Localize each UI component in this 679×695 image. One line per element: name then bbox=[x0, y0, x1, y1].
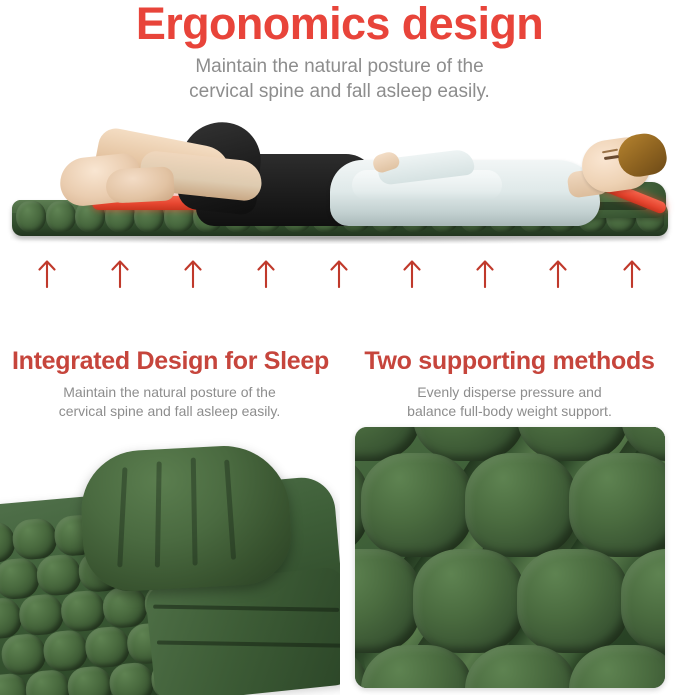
arrow-up-icon bbox=[402, 258, 422, 288]
hero-photo bbox=[0, 104, 679, 254]
air-cell bbox=[361, 453, 473, 557]
inflatable-pillow bbox=[78, 443, 293, 594]
support-arrow-row bbox=[0, 258, 679, 292]
section-left-photo: Sryang Sryang bbox=[0, 438, 340, 695]
section-left-heading: Integrated Design for Sleep bbox=[0, 346, 339, 376]
pad-baffle-cell bbox=[42, 629, 89, 673]
arrow-up-icon bbox=[256, 258, 276, 288]
arrow-up-icon bbox=[329, 258, 349, 288]
rail-seam bbox=[157, 640, 340, 647]
arrow-up-icon bbox=[475, 258, 495, 288]
section-left-subtitle: Maintain the natural posture of the cerv… bbox=[0, 383, 339, 421]
rail-seam bbox=[153, 605, 339, 612]
pad-baffle-cell bbox=[0, 633, 47, 677]
section-right-subtitle-line1: Evenly disperse pressure and bbox=[340, 383, 679, 402]
section-left-subtitle-line1: Maintain the natural posture of the bbox=[0, 383, 339, 402]
pillow-seam bbox=[117, 467, 127, 567]
pad-baffle-cell bbox=[35, 553, 82, 597]
section-right-subtitle: Evenly disperse pressure and balance ful… bbox=[340, 383, 679, 421]
air-cell bbox=[517, 549, 629, 653]
section-right-heading: Two supporting methods bbox=[340, 346, 679, 376]
section-right-photo bbox=[355, 427, 665, 688]
section-integrated-design: Integrated Design for Sleep Maintain the… bbox=[0, 346, 339, 421]
air-cell bbox=[413, 549, 525, 653]
hero-title: Ergonomics design bbox=[0, 0, 679, 50]
pillow-seam bbox=[191, 458, 198, 566]
pad-baffle-cell bbox=[60, 589, 107, 633]
arrow-up-icon bbox=[622, 258, 642, 288]
pad-air-cell bbox=[16, 201, 46, 232]
arrow-up-icon bbox=[110, 258, 130, 288]
pad-baffle-cell bbox=[11, 517, 58, 561]
hero-subtitle: Maintain the natural posture of the cerv… bbox=[0, 54, 679, 104]
hero-subtitle-line2: cervical spine and fall asleep easily. bbox=[0, 79, 679, 104]
product-infographic: Ergonomics design Maintain the natural p… bbox=[0, 0, 679, 695]
section-right-subtitle-line2: balance full-body weight support. bbox=[340, 402, 679, 421]
section-left-subtitle-line2: cervical spine and fall asleep easily. bbox=[0, 402, 339, 421]
arrow-up-icon bbox=[183, 258, 203, 288]
person-foot-second bbox=[105, 166, 175, 204]
pillow-seam bbox=[155, 461, 162, 567]
arrow-up-icon bbox=[37, 258, 57, 288]
pad-baffle-cell bbox=[84, 625, 131, 669]
air-cell bbox=[465, 453, 577, 557]
hero-subtitle-line1: Maintain the natural posture of the bbox=[0, 54, 679, 79]
pad-baffle-cell bbox=[0, 557, 41, 601]
arrow-up-icon bbox=[548, 258, 568, 288]
pad-air-cell bbox=[46, 201, 76, 232]
pillow-seam bbox=[224, 460, 236, 560]
section-two-supporting-methods: Two supporting methods Evenly disperse p… bbox=[340, 346, 679, 421]
pad-baffle-cell bbox=[18, 593, 65, 637]
pad-baffle-cell bbox=[101, 586, 148, 630]
air-cell bbox=[569, 453, 665, 557]
